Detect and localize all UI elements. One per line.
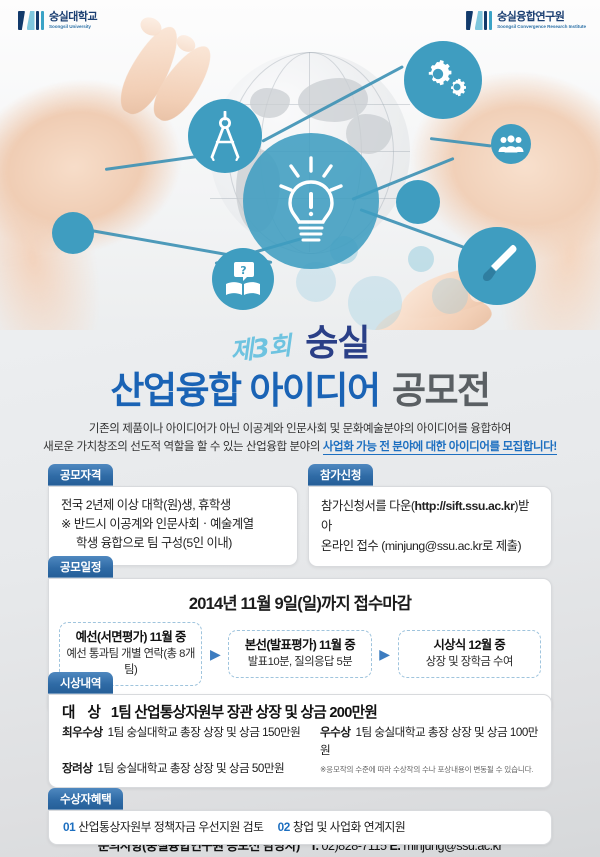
application-pre: 참가신청서를 다운(	[321, 499, 415, 513]
award-grand-text: 1팀 산업통상자원부 장관 상장 및 상금 200만원	[111, 705, 377, 721]
schedule-step-detail: 상장 및 장학금 수여	[403, 654, 536, 670]
poster-title: 제3회 숭실 산업융합 아이디어 공모전	[0, 320, 600, 414]
qualification-line-1: 전국 2년제 이상 대학(원)생, 휴학생	[61, 496, 285, 515]
title-edition: 제3회	[228, 323, 293, 375]
soongsil-university-logo: 숭실대학교 Soongsil University	[18, 11, 97, 30]
schedule-step-title: 시상식 12월 중	[403, 637, 536, 654]
award-cell: 최우수상1팀 숭실대학교 총장 상장 및 상금 150만원	[62, 724, 320, 742]
award-cell: 장려상1팀 숭실대학교 총장 상장 및 상금 50만원	[62, 760, 320, 778]
application-url[interactable]: http://sift.ssu.ac.kr	[415, 499, 515, 513]
book-question-icon: ?	[212, 248, 274, 310]
qualification-line-3: 학생 융합으로 팀 구성(5인 이내)	[61, 534, 285, 553]
logo-right-en: Soongsil Convergence Research Institute	[497, 25, 586, 30]
award-name: 우수상	[320, 726, 351, 739]
tab-schedule: 공모일정	[48, 556, 113, 578]
qualification-panel: 전국 2년제 이상 대학(원)생, 휴학생 ※ 반드시 이공계와 인문사회ㆍ예술…	[48, 486, 298, 566]
schedule-steps: 예선(서면평가) 11월 중 예선 통과팀 개별 연락(총 8개팀) ▶ 본선(…	[59, 622, 541, 686]
tab-application: 참가신청	[308, 464, 373, 486]
description-line-1: 기존의 제품이나 아이디어가 아닌 이공계와 인문사회 및 문화예술분야의 아이…	[0, 420, 600, 438]
benefits-list: 01산업통상자원부 정책자금 우선지원 검토02창업 및 사업화 연계지원	[63, 818, 538, 836]
hero-illustration: ?	[0, 0, 600, 330]
schedule-arrow-icon: ▶	[202, 647, 228, 661]
title-suffix: 공모전	[392, 370, 490, 411]
title-line-2: 산업융합 아이디어 공모전	[0, 368, 600, 414]
people-group-icon	[491, 124, 531, 164]
svg-text:?: ?	[240, 264, 246, 277]
ssu-logo-mark	[18, 11, 44, 30]
logo-left-en: Soongsil University	[49, 25, 97, 30]
award-text: 1팀 숭실대학교 총장 상장 및 상금 50만원	[98, 762, 285, 775]
award-row: 장려상1팀 숭실대학교 총장 상장 및 상금 50만원 ※응모작의 수준에 따라…	[62, 760, 538, 779]
benefit-text: 산업통상자원부 정책자금 우선지원 검토	[78, 820, 263, 834]
title-line-1: 제3회 숭실	[0, 320, 600, 366]
schedule-step-detail: 발표10분, 질의응답 5분	[233, 654, 366, 670]
award-grand: 대 상1팀 산업통상자원부 장관 상장 및 상금 200만원	[62, 702, 538, 724]
tab-qualification: 공모자격	[48, 464, 113, 486]
application-panel: 참가신청서를 다운(http://sift.ssu.ac.kr)받아 온라인 접…	[308, 486, 552, 567]
awards-note: ※응모작의 수준에 따라 수상작의 수나 포상내용이 변동될 수 있습니다.	[320, 761, 538, 779]
description-line-2-pre: 새로운 가치창조의 선도적 역할을 할 수 있는 산업융합 분야의	[43, 441, 323, 453]
benefit-text: 창업 및 사업화 연계지원	[293, 820, 406, 834]
award-grand-label: 대 상	[62, 705, 105, 721]
gears-icon	[404, 41, 482, 119]
schedule-step: 본선(발표평가) 11월 중 발표10분, 질의응답 5분	[228, 630, 371, 678]
schedule-deadline: 2014년 11월 9일(일)까지 접수마감	[59, 590, 541, 614]
paintbrush-icon	[458, 227, 536, 305]
section-schedule: 공모일정 2014년 11월 9일(일)까지 접수마감 예선(서면평가) 11월…	[48, 556, 552, 714]
award-cell: 우수상1팀 숭실대학교 총장 상장 및 상금 100만원	[320, 724, 538, 760]
award-text: 1팀 숭실대학교 총장 상장 및 상금 100만원	[320, 726, 538, 757]
title-org: 숭실	[305, 322, 369, 363]
qualification-line-2: ※ 반드시 이공계와 인문사회ㆍ예술계열	[61, 515, 285, 534]
tab-benefits: 수상자혜택	[48, 788, 123, 810]
title-main: 산업융합 아이디어	[110, 370, 379, 411]
benefit-number: 01	[63, 820, 75, 834]
decorative-node	[408, 246, 434, 272]
award-name: 장려상	[62, 762, 93, 775]
award-name: 최우수상	[62, 726, 103, 739]
schedule-arrow-icon: ▶	[372, 647, 398, 661]
schedule-step: 시상식 12월 중 상장 및 장학금 수여	[398, 630, 541, 678]
section-qualification: 공모자격 전국 2년제 이상 대학(원)생, 휴학생 ※ 반드시 이공계와 인문…	[48, 464, 298, 566]
poster-description: 기존의 제품이나 아이디어가 아닌 이공계와 인문사회 및 문화예술분야의 아이…	[0, 420, 600, 456]
application-line-2: 온라인 접수 (minjung@ssu.ac.kr로 제출)	[321, 536, 539, 556]
schedule-step-title: 본선(발표평가) 11월 중	[233, 637, 366, 654]
logo-right-ko: 숭실융합연구원	[497, 12, 586, 23]
schedule-step-title: 예선(서면평가) 11월 중	[64, 629, 197, 646]
benefits-panel: 01산업통상자원부 정책자금 우선지원 검토02창업 및 사업화 연계지원	[48, 810, 552, 845]
application-line-1: 참가신청서를 다운(http://sift.ssu.ac.kr)받아	[321, 496, 539, 536]
scri-logo-mark	[466, 11, 492, 30]
plain-node	[52, 212, 94, 254]
section-application: 참가신청 참가신청서를 다운(http://sift.ssu.ac.kr)받아 …	[308, 464, 552, 567]
plain-node	[396, 180, 440, 224]
section-benefits: 수상자혜택 01산업통상자원부 정책자금 우선지원 검토02창업 및 사업화 연…	[48, 788, 552, 845]
lightbulb-idea-icon	[278, 152, 344, 248]
tab-awards: 시상내역	[48, 672, 113, 694]
awards-panel: 대 상1팀 산업통상자원부 장관 상장 및 상금 200만원 최우수상1팀 숭실…	[48, 694, 552, 788]
logo-left-ko: 숭실대학교	[49, 12, 97, 23]
description-line-2: 새로운 가치창조의 선도적 역할을 할 수 있는 산업융합 분야의 사업화 가능…	[0, 438, 600, 456]
award-text: 1팀 숭실대학교 총장 상장 및 상금 150만원	[108, 726, 301, 739]
award-row: 최우수상1팀 숭실대학교 총장 상장 및 상금 150만원 우수상1팀 숭실대학…	[62, 724, 538, 760]
compass-divider-icon	[188, 99, 262, 173]
poster-root: ? 숭실대학교 So	[0, 0, 600, 857]
description-highlight: 사업화 가능 전 분야에 대한 아이디어를 모집합니다!	[323, 441, 557, 455]
benefit-number: 02	[278, 820, 290, 834]
soongsil-cri-logo: 숭실융합연구원 Soongsil Convergence Research In…	[466, 11, 586, 30]
